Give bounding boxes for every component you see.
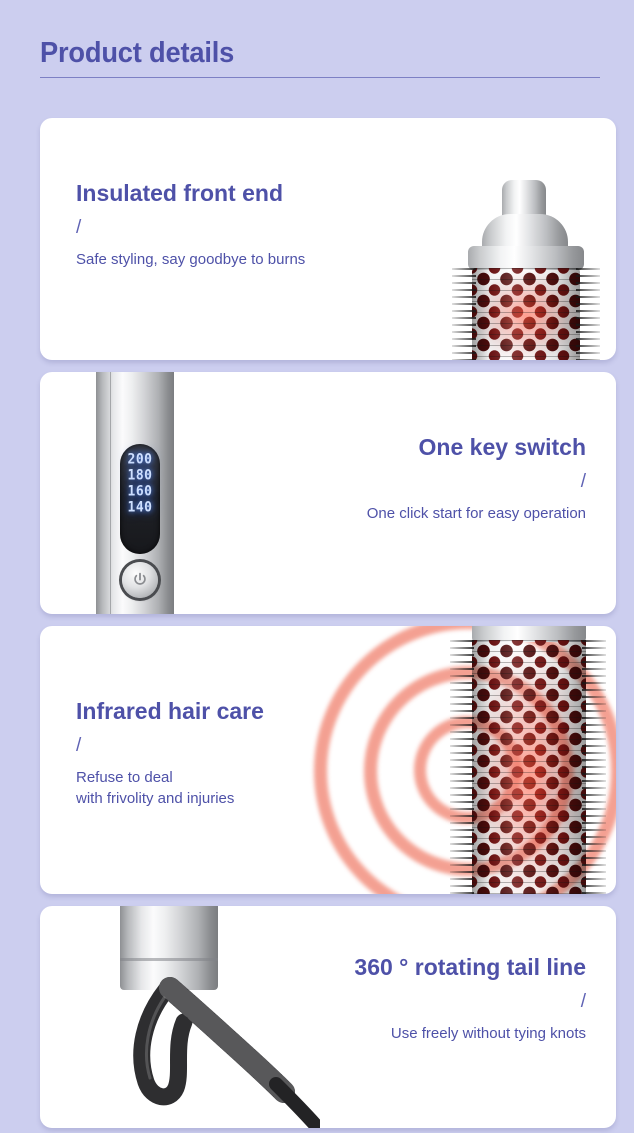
bristles-left	[450, 640, 474, 894]
page-header: Product details	[40, 36, 600, 78]
feature-title: Infrared hair care	[76, 698, 264, 725]
feature-card-one-key-switch[interactable]: 200 180 160 140 One key switch / One cli…	[40, 372, 616, 614]
separator-slash: /	[76, 213, 305, 243]
feature-description: Refuse to deal with frivolity and injuri…	[76, 767, 264, 809]
feature-card-rotating-tail-line[interactable]: 360 ° rotating tail line / Use freely wi…	[40, 906, 616, 1128]
feature-description: Safe styling, say goodbye to burns	[76, 249, 305, 270]
led-value-140: 140	[128, 499, 153, 517]
separator-slash: /	[354, 987, 586, 1017]
feature-text-block: One key switch / One click start for eas…	[367, 434, 586, 524]
cord-svg	[70, 906, 320, 1128]
brush-barrel-image	[428, 626, 616, 894]
feature-text-block: Insulated front end / Safe styling, say …	[76, 180, 305, 270]
handle-seam	[110, 372, 111, 614]
product-details-page: Product details Insulated	[0, 0, 634, 1133]
page-title: Product details	[40, 36, 566, 70]
brush-barrel	[472, 640, 586, 894]
bristle-clip-left	[444, 640, 474, 894]
power-icon	[131, 571, 149, 589]
led-temperature-display: 200 180 160 140	[120, 444, 160, 554]
feature-description: Use freely without tying knots	[354, 1023, 586, 1044]
power-cord-image	[70, 906, 320, 1128]
brush-head-image	[438, 118, 616, 360]
feature-text-block: Infrared hair care / Refuse to deal with…	[76, 698, 264, 809]
feature-title: One key switch	[367, 434, 586, 461]
title-divider	[40, 77, 600, 78]
barrel-bristle-texture	[472, 268, 580, 360]
bristles-left	[452, 268, 476, 360]
barrel-bristle-texture	[472, 640, 586, 894]
separator-slash: /	[367, 467, 586, 497]
feature-text-block: 360 ° rotating tail line / Use freely wi…	[354, 954, 586, 1044]
feature-card-insulated-front-end[interactable]: Insulated front end / Safe styling, say …	[40, 118, 616, 360]
handle-image: 200 180 160 140	[82, 372, 222, 614]
bristle-clip-right	[576, 268, 606, 360]
bristle-clip-right	[582, 640, 612, 894]
bristles-right	[582, 640, 606, 894]
separator-slash: /	[76, 731, 264, 761]
feature-title: 360 ° rotating tail line	[354, 954, 586, 981]
bristle-clip-left	[446, 268, 476, 360]
power-button[interactable]	[122, 562, 158, 598]
bristles-right	[576, 268, 600, 360]
nozzle-collar	[468, 246, 584, 270]
feature-card-infrared-hair-care[interactable]: Infrared hair care / Refuse to deal with…	[40, 626, 616, 894]
feature-title: Insulated front end	[76, 180, 305, 207]
cord-tail	[276, 1084, 318, 1128]
brush-barrel	[472, 268, 580, 360]
feature-description: One click start for easy operation	[367, 503, 586, 524]
